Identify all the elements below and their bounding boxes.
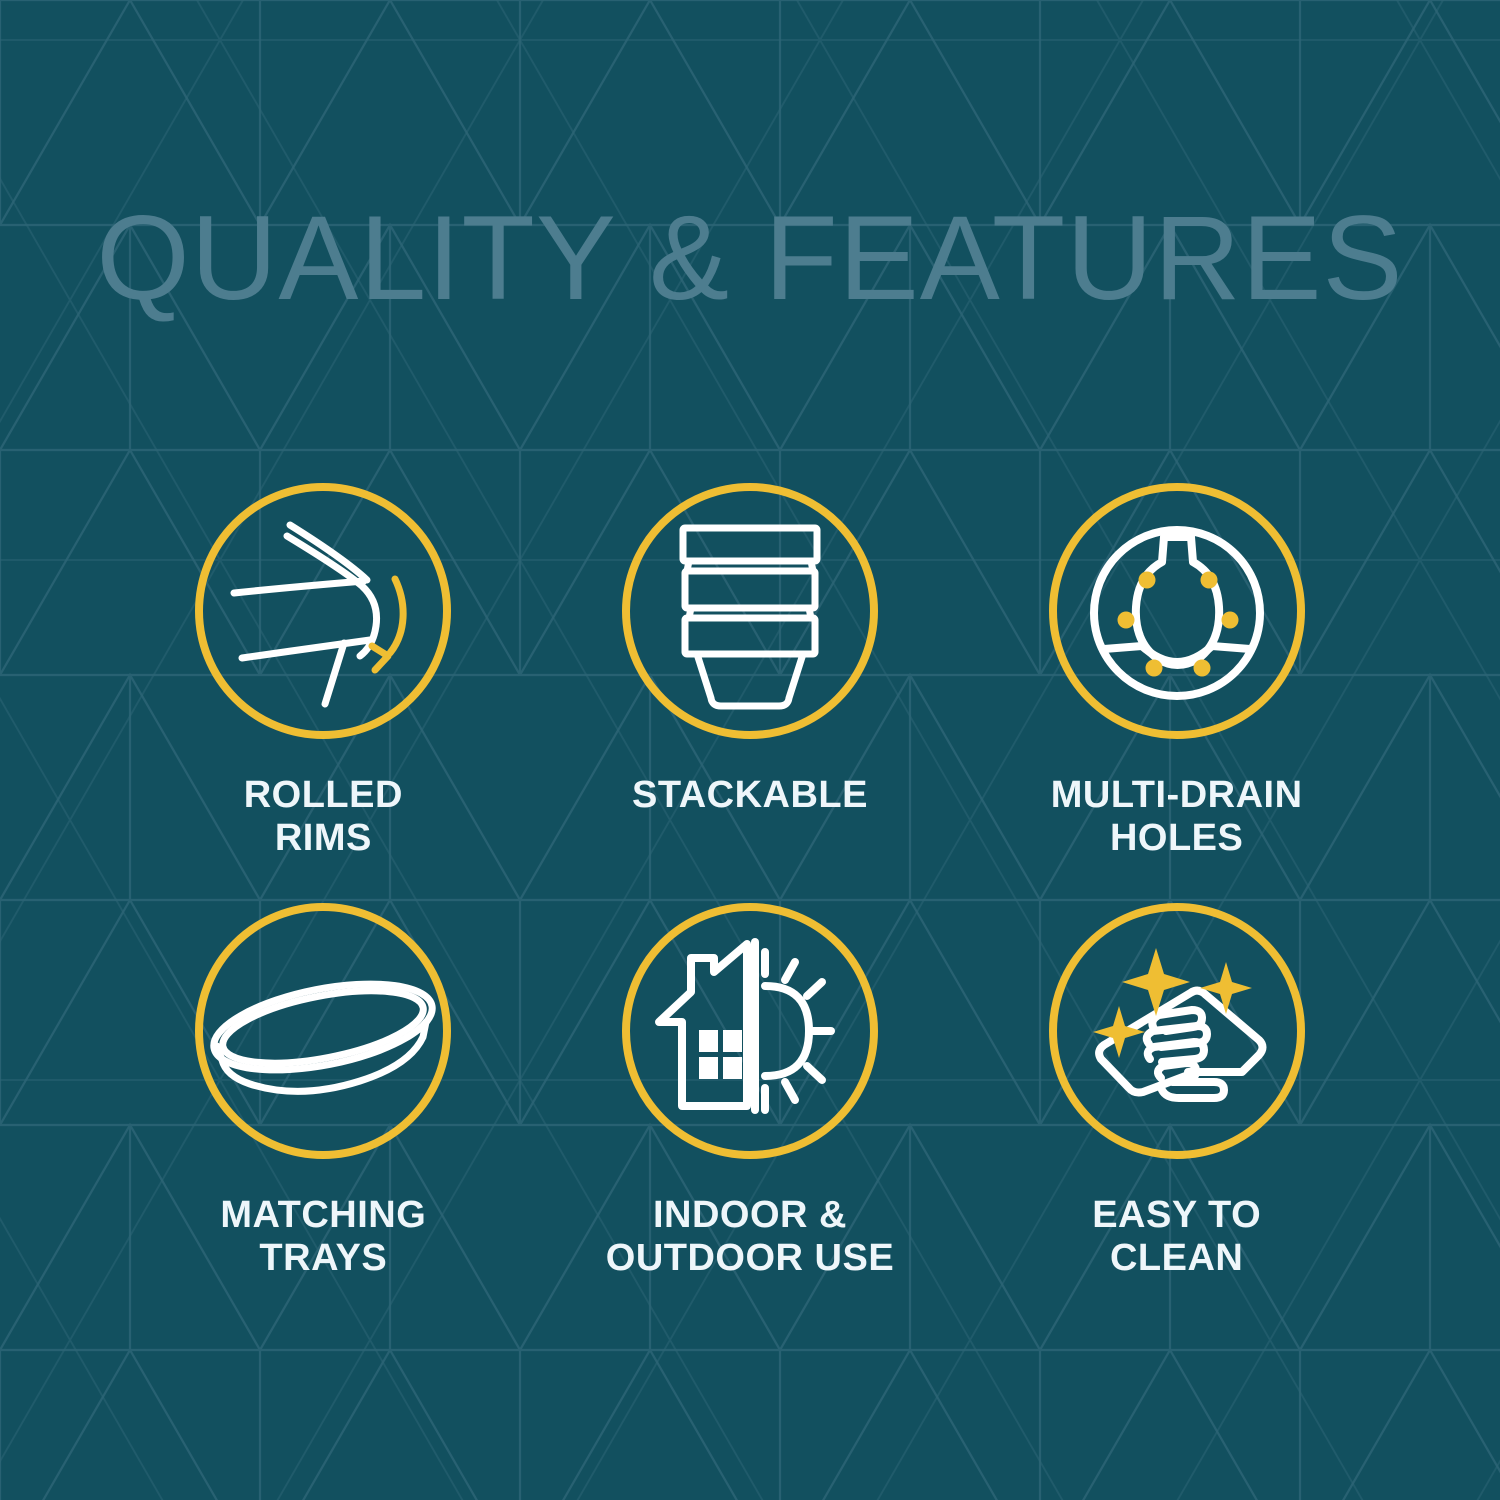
rolled-rim-icon xyxy=(192,480,454,742)
feature-label: EASY TO CLEAN xyxy=(1092,1194,1261,1279)
feature-rolled-rims: ROLLED RIMS xyxy=(110,480,537,900)
feature-matching-trays: MATCHING TRAYS xyxy=(110,900,537,1320)
feature-label: STACKABLE xyxy=(632,774,868,817)
feature-stackable: STACKABLE xyxy=(537,480,964,900)
features-grid: ROLLED RIMS STACKABLE xyxy=(110,480,1390,1320)
hand-wiping-sparkle-icon xyxy=(1046,900,1308,1162)
feature-indoor-outdoor-use: INDOOR & OUTDOOR USE xyxy=(537,900,964,1320)
feature-label: INDOOR & OUTDOOR USE xyxy=(606,1194,894,1279)
page-title: QUALITY & FEATURES xyxy=(0,198,1500,318)
drain-holes-icon xyxy=(1046,480,1308,742)
feature-label: MATCHING TRAYS xyxy=(220,1194,426,1279)
stacked-pots-icon xyxy=(619,480,881,742)
feature-easy-to-clean: EASY TO CLEAN xyxy=(963,900,1390,1320)
feature-multi-drain-holes: MULTI-DRAIN HOLES xyxy=(963,480,1390,900)
house-sun-icon xyxy=(619,900,881,1162)
feature-label: MULTI-DRAIN HOLES xyxy=(1051,774,1303,859)
saucer-tray-icon xyxy=(192,900,454,1162)
feature-label: ROLLED RIMS xyxy=(244,774,403,859)
quality-and-features-infographic: QUALITY & FEATURES xyxy=(0,0,1500,1500)
